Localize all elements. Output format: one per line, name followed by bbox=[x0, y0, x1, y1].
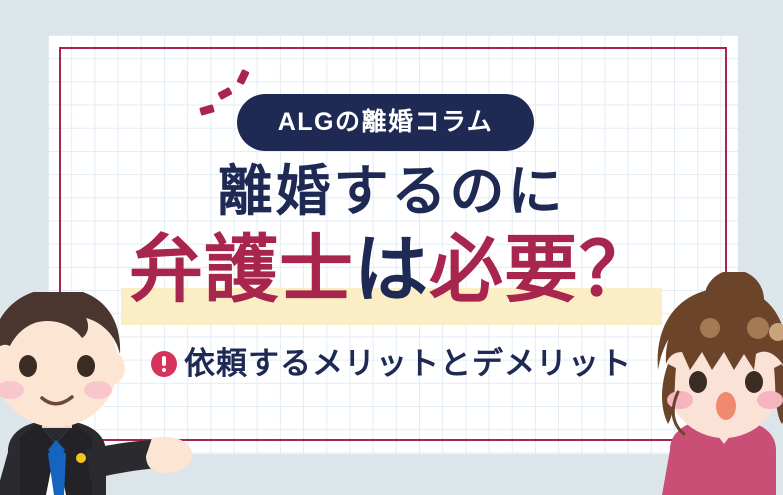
headline-segment-wa: は bbox=[354, 228, 429, 311]
subtitle-text: 依頼するメリットとデメリット bbox=[184, 348, 632, 379]
male-lawyer-illustration bbox=[0, 292, 201, 495]
column-badge-label: ALGの離婚コラム bbox=[278, 110, 494, 135]
spark-dash-icon bbox=[236, 69, 249, 85]
poster-canvas: ALGの離婚コラム 離婚するのに 弁護士は必要？ 依頼するメリットとデメリット bbox=[0, 0, 783, 495]
spark-dash-icon bbox=[199, 104, 215, 116]
spark-dash-icon bbox=[217, 87, 232, 100]
column-badge: ALGの離婚コラム bbox=[237, 94, 534, 151]
female-client-illustration bbox=[650, 272, 783, 495]
headline-line-1: 離婚するのに bbox=[0, 164, 783, 219]
headline-segment-hitsuyou: 必要？ bbox=[429, 228, 654, 311]
